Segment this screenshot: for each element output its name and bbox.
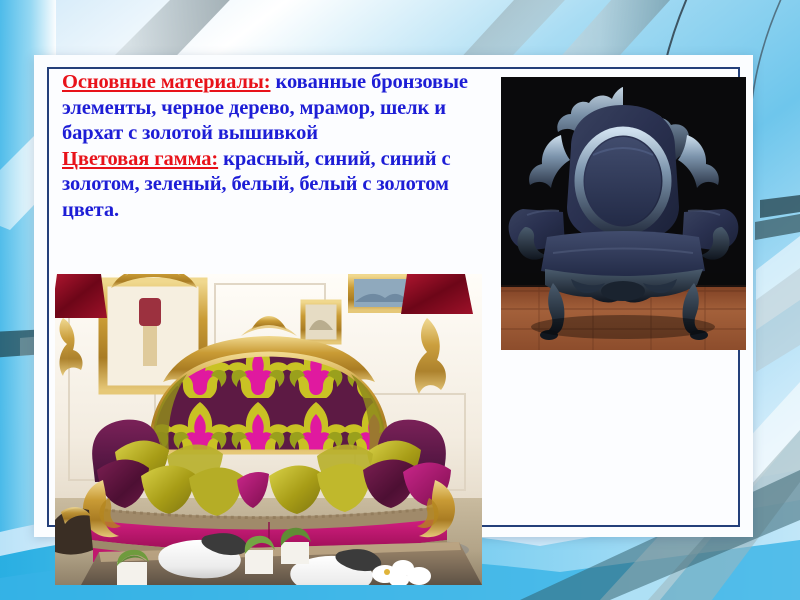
slide-canvas: Основные материалы: кованные бронзовые э… <box>0 0 800 600</box>
sofa-illustration <box>55 274 482 585</box>
slide-text-block: Основные материалы: кованные бронзовые э… <box>62 70 492 223</box>
paragraph-colors: Цветовая гамма: красный, синий, синий с … <box>62 147 492 224</box>
lampshade-right <box>401 274 473 314</box>
armchair-image <box>501 77 746 350</box>
paragraph-materials: Основные материалы: кованные бронзовые э… <box>62 70 492 147</box>
armchair-illustration <box>501 77 746 350</box>
sofa-image <box>55 274 482 585</box>
heading-materials: Основные материалы: <box>62 71 271 93</box>
heading-colors: Цветовая гамма: <box>62 148 218 170</box>
lampshade-left <box>55 274 107 318</box>
